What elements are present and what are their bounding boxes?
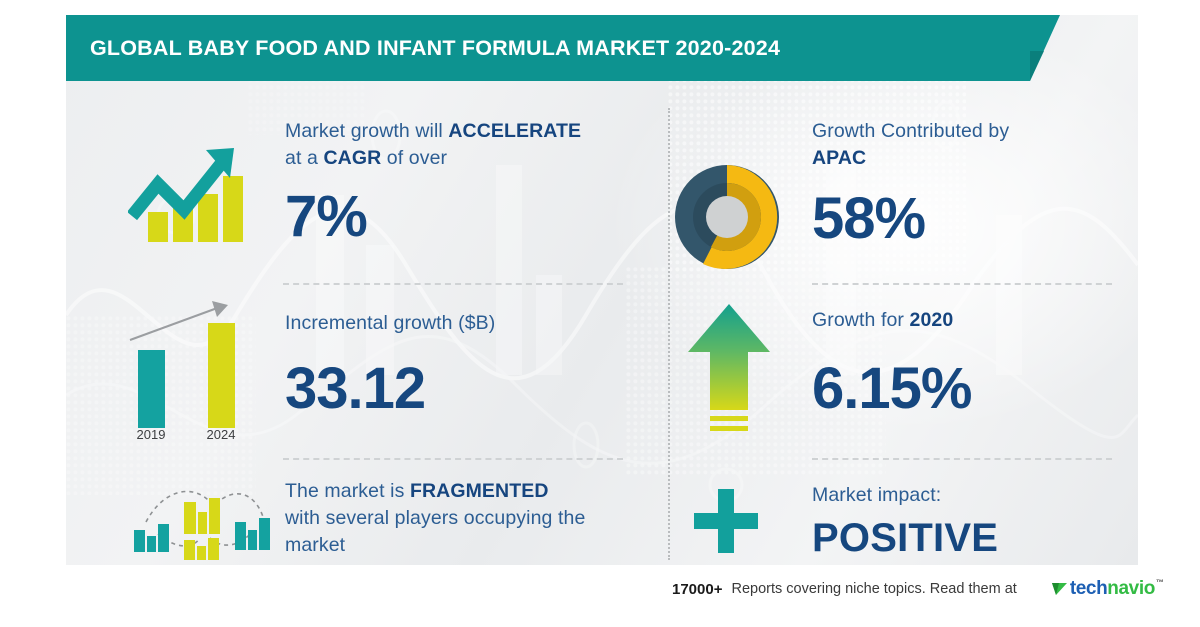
plus-icon (690, 485, 762, 557)
technavio-mark-icon (1050, 580, 1070, 598)
footer-text: Reports covering niche topics. Read them… (731, 581, 1016, 597)
apac-label-bold: APAC (812, 147, 866, 169)
cagr-value: 7% (285, 188, 367, 246)
fragmented-line1-bold: FRAGMENTED (410, 480, 549, 502)
growth-chart-icon (128, 138, 248, 248)
right-divider-2 (812, 458, 1112, 460)
up-arrow-icon (686, 300, 772, 440)
header-banner: GLOBAL BABY FOOD AND INFANT FORMULA MARK… (66, 15, 1030, 81)
fragmented-line1-prefix: The market is (285, 480, 410, 502)
left-divider-1 (283, 283, 623, 285)
apac-value: 58% (812, 190, 925, 248)
apac-label-line1: Growth Contributed by (812, 120, 1009, 142)
fragmented-line2: with several players occupying the (285, 507, 585, 529)
right-divider-1 (812, 283, 1112, 285)
logo-trademark: ™ (1156, 578, 1164, 587)
cagr-line2-suffix: of over (381, 147, 447, 169)
market-impact-value: POSITIVE (812, 518, 998, 558)
bar-comparison-icon: 2019 2024 (108, 295, 268, 440)
bar-label-2024: 2024 (207, 427, 236, 440)
donut-chart-icon (668, 158, 786, 276)
technavio-wordmark: technavio™ (1070, 578, 1164, 600)
cagr-line2-bold: CAGR (323, 147, 381, 169)
cagr-line1-prefix: Market growth will (285, 120, 448, 142)
growth-2020-value: 6.15% (812, 360, 971, 418)
left-divider-2 (283, 458, 623, 460)
growth-2020-label: Growth for 2020 (812, 307, 1112, 334)
cagr-line1-bold: ACCELERATE (448, 120, 581, 142)
report-count: 17000+ (672, 581, 722, 598)
infographic-root: GLOBAL BABY FOOD AND INFANT FORMULA MARK… (0, 0, 1200, 627)
fragmented-statement: The market is FRAGMENTED with several pl… (285, 478, 640, 559)
market-impact-label: Market impact: (812, 482, 1112, 509)
fragmented-market-icon (118, 478, 283, 563)
technavio-logo[interactable]: technavio™ (1050, 578, 1164, 600)
incremental-growth-label: Incremental growth ($B) (285, 310, 635, 337)
growth-2020-label-bold: 2020 (910, 309, 954, 331)
apac-label: Growth Contributed by APAC (812, 118, 1112, 172)
cagr-line2-prefix: at a (285, 147, 323, 169)
incremental-growth-value: 33.12 (285, 360, 425, 418)
bar-label-2019: 2019 (137, 427, 166, 440)
growth-2020-label-prefix: Growth for (812, 309, 910, 331)
fragmented-line3: market (285, 534, 345, 556)
logo-tech: tech (1070, 578, 1107, 599)
logo-navio: navio (1107, 578, 1155, 599)
cagr-statement: Market growth will ACCELERATE at a CAGR … (285, 118, 635, 172)
page-title: GLOBAL BABY FOOD AND INFANT FORMULA MARK… (66, 36, 780, 61)
ribbon-fold-shadow (1030, 51, 1044, 81)
footer: 17000+ Reports covering niche topics. Re… (672, 578, 1164, 600)
